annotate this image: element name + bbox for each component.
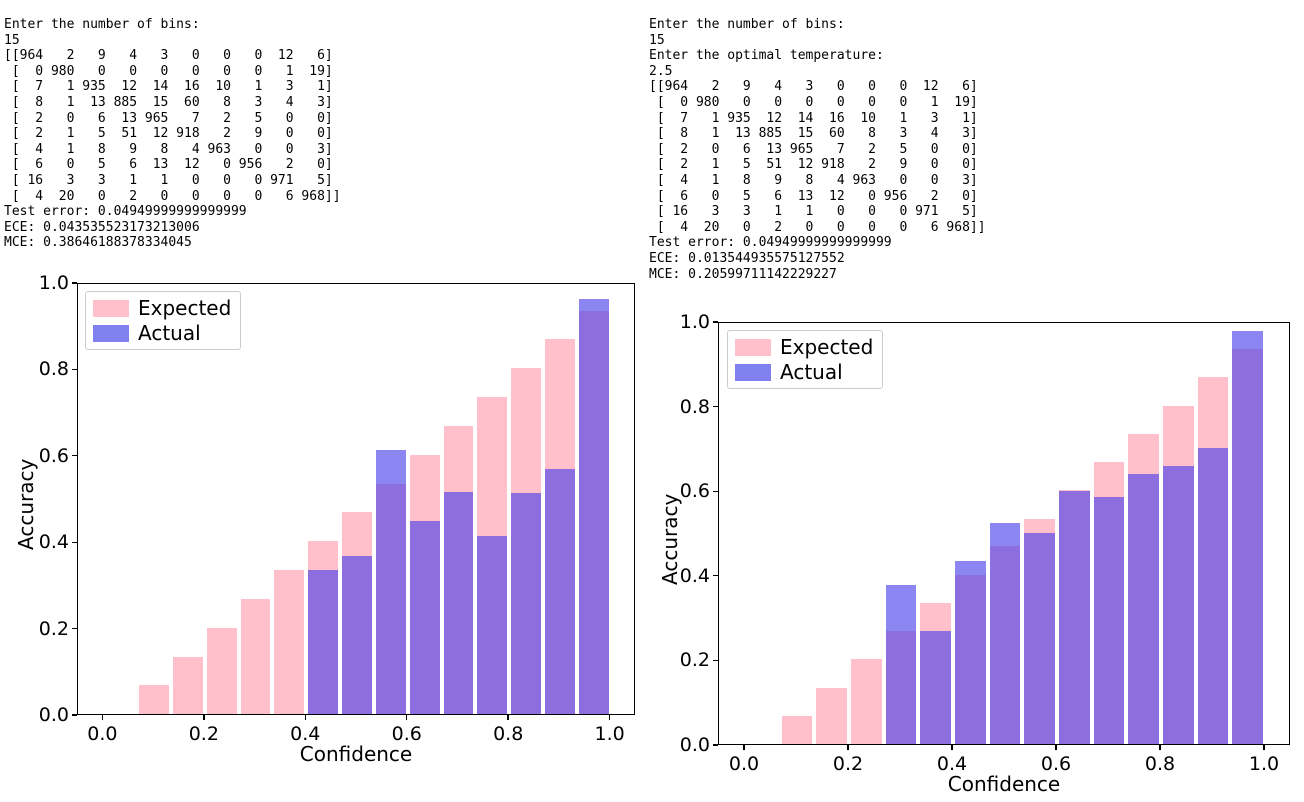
bar-actual <box>1094 497 1124 744</box>
y-tick-label: 1.0 <box>660 311 710 333</box>
legend-entry: Expected <box>93 298 231 318</box>
y-axis-title-left: Accuracy <box>14 459 38 550</box>
bar-expected <box>207 628 237 714</box>
y-tick-label: 0.2 <box>660 649 710 671</box>
bar-expected <box>274 570 304 714</box>
x-tick-mark <box>203 715 204 720</box>
y-tick-label: 0.8 <box>19 358 69 380</box>
y-tick-mark <box>713 321 718 322</box>
x-tick-mark <box>1263 745 1264 750</box>
x-tick-label: 1.0 <box>1249 753 1279 775</box>
y-tick-label: 0.8 <box>660 396 710 418</box>
legend-entry: Expected <box>735 337 873 357</box>
bar-expected <box>816 688 847 744</box>
legend-label: Actual <box>780 362 843 382</box>
reliability-diagram-uncalibrated: 0.00.20.40.60.81.00.00.20.40.60.81.0 Con… <box>0 0 652 802</box>
bar-expected <box>241 599 271 714</box>
x-tick-mark <box>305 715 306 720</box>
x-tick-label: 0.2 <box>833 753 863 775</box>
x-tick-label: 0.8 <box>493 723 523 745</box>
bar-actual <box>545 469 575 714</box>
x-tick-mark <box>102 715 103 720</box>
bar-actual <box>886 585 916 744</box>
bar-actual <box>444 492 474 714</box>
legend-label: Expected <box>780 337 873 357</box>
bar-actual <box>342 556 372 714</box>
x-tick-label: 0.2 <box>189 723 219 745</box>
bar-expected <box>782 716 812 744</box>
bar-actual <box>1163 466 1194 744</box>
x-tick-label: 0.0 <box>729 753 759 775</box>
legend-right: ExpectedActual <box>727 330 883 389</box>
bar-actual <box>1024 533 1055 745</box>
x-tick-label: 0.8 <box>1145 753 1175 775</box>
y-tick-label: 1.0 <box>19 272 69 294</box>
bar-actual <box>410 521 440 714</box>
y-axis-title-right: Accuracy <box>658 494 682 585</box>
x-tick-mark <box>609 715 610 720</box>
bar-actual <box>955 561 986 744</box>
bar-actual <box>1198 448 1228 744</box>
legend-swatch-expected <box>735 339 771 356</box>
y-tick-label: 0.0 <box>19 704 69 726</box>
y-tick-mark <box>713 575 718 576</box>
x-tick-label: 1.0 <box>595 723 625 745</box>
y-tick-mark <box>72 282 77 283</box>
x-tick-mark <box>507 715 508 720</box>
bar-expected <box>139 685 169 714</box>
bar-actual <box>579 299 609 714</box>
x-tick-mark <box>951 745 952 750</box>
bar-expected <box>173 657 203 714</box>
y-tick-mark <box>713 406 718 407</box>
legend-swatch-actual <box>93 325 129 342</box>
reliability-diagram-temperature-scaled: 0.00.20.40.60.81.00.00.20.40.60.81.0 Con… <box>652 0 1304 802</box>
bar-actual <box>477 536 507 714</box>
bar-expected <box>851 659 882 744</box>
y-tick-label: 0.0 <box>660 734 710 756</box>
bar-actual <box>1232 331 1263 744</box>
y-tick-mark <box>713 660 718 661</box>
y-tick-mark <box>713 491 718 492</box>
x-axis-title-right: Confidence <box>948 772 1060 796</box>
legend-swatch-actual <box>735 364 771 381</box>
y-tick-mark <box>72 542 77 543</box>
y-tick-mark <box>72 714 77 715</box>
legend-entry: Actual <box>735 362 873 382</box>
legend-label: Expected <box>138 298 231 318</box>
x-tick-label: 0.0 <box>87 723 117 745</box>
y-tick-mark <box>72 628 77 629</box>
x-tick-mark <box>1159 745 1160 750</box>
y-tick-mark <box>713 744 718 745</box>
bar-actual <box>1128 474 1159 744</box>
y-tick-mark <box>72 455 77 456</box>
x-tick-mark <box>1055 745 1056 750</box>
bar-actual <box>376 450 406 714</box>
bar-actual <box>920 631 951 744</box>
x-tick-mark <box>847 745 848 750</box>
legend-left: ExpectedActual <box>85 291 241 350</box>
bar-actual <box>511 493 541 714</box>
y-tick-label: 0.2 <box>19 618 69 640</box>
y-tick-mark <box>72 369 77 370</box>
x-axis-title-left: Confidence <box>300 742 412 766</box>
legend-swatch-expected <box>93 300 129 317</box>
x-tick-mark <box>406 715 407 720</box>
legend-entry: Actual <box>93 323 231 343</box>
x-tick-mark <box>743 745 744 750</box>
legend-label: Actual <box>138 323 201 343</box>
bar-actual <box>308 570 338 714</box>
bar-actual <box>1059 491 1090 744</box>
bar-actual <box>990 523 1020 744</box>
